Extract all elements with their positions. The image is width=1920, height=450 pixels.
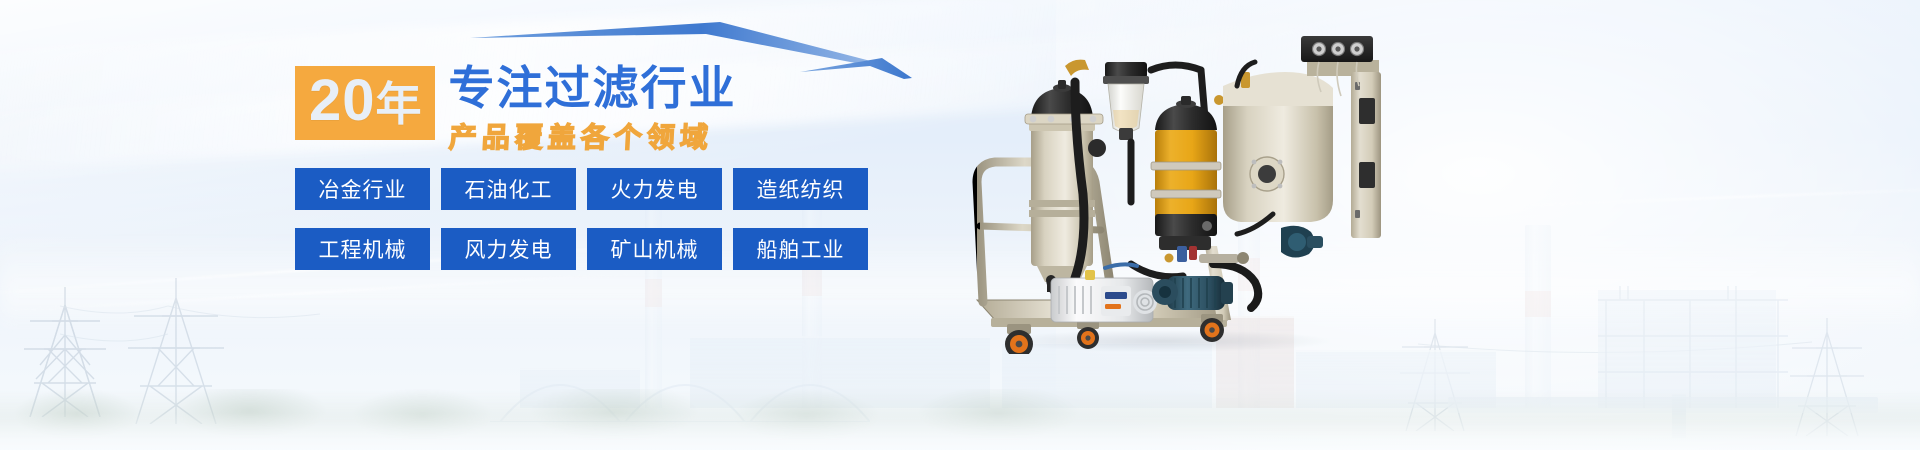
yellow-filter-canister	[1151, 96, 1221, 262]
tag-button-wind-power[interactable]: 风力发电	[441, 228, 576, 270]
headline-stack: 专注过滤行业 产品覆盖各个领域	[449, 64, 737, 156]
gauge-panel	[1301, 36, 1373, 62]
tag-button-metallurgy[interactable]: 冶金行业	[295, 168, 430, 210]
caster-wheel	[1077, 320, 1099, 349]
sight-glass-bowl	[1103, 62, 1149, 140]
industry-tag-grid: 冶金行业 石油化工 火力发电 造纸纺织 工程机械 风力发电 矿山机械 船舶工业	[295, 168, 868, 270]
product-image-filtration-cart	[955, 14, 1455, 354]
hero-banner: 20年 专注过滤行业 产品覆盖各个领域 冶金行业 石油化工 火力发电 造纸纺织 …	[0, 0, 1920, 450]
tag-button-paper-textile[interactable]: 造纸纺织	[733, 168, 868, 210]
tag-button-marine-industry[interactable]: 船舶工业	[733, 228, 868, 270]
ground-fade	[0, 413, 1920, 450]
tag-button-petrochemical[interactable]: 石油化工	[441, 168, 576, 210]
page-subtitle: 产品覆盖各个领域	[447, 116, 737, 156]
main-tank	[1223, 72, 1333, 222]
tag-button-thermal-power[interactable]: 火力发电	[587, 168, 722, 210]
side-pump-housing	[1281, 226, 1323, 258]
headline-block: 20年 专注过滤行业 产品覆盖各个领域	[295, 66, 915, 156]
vacuum-pump	[1051, 270, 1157, 322]
caster-wheel	[1005, 324, 1033, 354]
years-number: 20	[309, 68, 376, 133]
page-title: 专注过滤行业	[449, 64, 737, 114]
years-unit: 年	[376, 78, 423, 130]
tag-button-construction-machinery[interactable]: 工程机械	[295, 228, 430, 270]
tag-button-mining-machinery[interactable]: 矿山机械	[587, 228, 722, 270]
years-badge: 20年	[295, 66, 435, 140]
transfer-pump-motor	[1152, 276, 1233, 310]
headline-row: 20年 专注过滤行业 产品覆盖各个领域	[295, 66, 915, 156]
caster-wheel	[1200, 314, 1224, 342]
